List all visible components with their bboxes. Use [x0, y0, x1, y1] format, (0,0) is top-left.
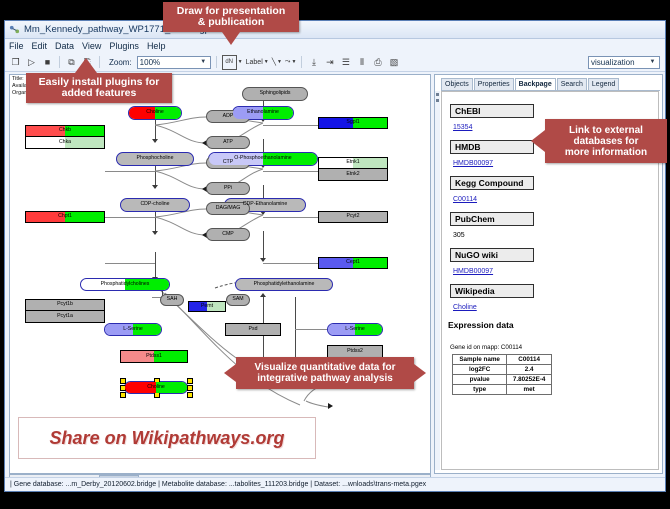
line-dropdown[interactable]: ╲ ▼ [272, 58, 282, 66]
node-pcyt1a[interactable]: Pcyt1a [25, 311, 105, 323]
cell-type-value: met [507, 385, 552, 395]
label-icon[interactable]: Label [246, 59, 263, 66]
dbvalue-pubchem: 305 [453, 232, 465, 239]
resize-handle[interactable] [187, 385, 193, 391]
tab-objects[interactable]: Objects [441, 78, 473, 90]
expression-data-heading: Expression data [448, 320, 514, 330]
callout-link-line3: more information [565, 147, 647, 158]
node-choline-selected[interactable]: Choline [124, 381, 188, 394]
callout-plugins: Easily install plugins for added feature… [26, 73, 172, 103]
callout-link-line2: databases for [573, 136, 638, 147]
arrow-icon [328, 403, 333, 409]
toolbar-separator-1 [59, 56, 60, 68]
zoom-label: Zoom: [109, 58, 132, 67]
callout-link-pointer-icon [531, 130, 545, 152]
callout-link-line1: Link to external [569, 125, 643, 136]
menu-item-edit[interactable]: Edit [32, 41, 48, 51]
dblink-kegg[interactable]: C00114 [453, 196, 477, 203]
chevron-down-icon[interactable]: ▼ [264, 59, 269, 65]
resize-handle[interactable] [187, 392, 193, 398]
callout-plugins-line2: added features [62, 88, 137, 99]
node-choline-top[interactable]: Choline [128, 106, 182, 120]
node-sah[interactable]: SAH [160, 294, 184, 306]
callout-share: Share on Wikipathways.org [18, 417, 316, 459]
open-folder-icon[interactable]: ▷ [25, 56, 38, 69]
save-icon[interactable]: ■ [41, 56, 54, 69]
connector [105, 217, 155, 218]
connector [295, 329, 327, 330]
visualization-combobox[interactable]: visualization ▼ [588, 56, 660, 69]
menu-item-data[interactable]: Data [55, 41, 74, 51]
pathway-info-block: Title: Availa Organ [12, 76, 27, 97]
node-chka[interactable]: Chka [25, 137, 105, 149]
callout-visualize-line2: integrative pathway analysis [257, 373, 393, 384]
node-phosphatidylethanolamine[interactable]: Phosphatidylethanolamine [235, 278, 333, 291]
cell-log2fc-label: log2FC [453, 365, 507, 375]
tab-search[interactable]: Search [557, 78, 587, 90]
node-sam[interactable]: SAM [226, 294, 250, 306]
menu-item-file[interactable]: File [9, 41, 24, 51]
print-icon[interactable]: ⎙ [371, 56, 384, 69]
node-ppi[interactable]: PPi [206, 182, 250, 195]
callout-visualize-pointer-left-icon [224, 364, 236, 382]
node-sphingolipids[interactable]: Sphingolipids [242, 87, 308, 101]
share-text: Share on Wikipathways.org [50, 428, 285, 449]
toolbar-separator-4 [301, 56, 302, 68]
chevron-down-icon[interactable]: ▼ [648, 57, 657, 68]
node-cept1[interactable]: Cept1 [318, 257, 388, 269]
connector [263, 263, 318, 264]
chevron-down-icon[interactable]: ▼ [292, 59, 297, 65]
pathvisio-icon [9, 24, 20, 35]
node-l-serine-left[interactable]: L-Serine [104, 323, 162, 336]
distribute-icon[interactable]: ⫴ [355, 56, 368, 69]
table-row: log2FC 2.4 [453, 365, 552, 375]
table-row: pvalue 7.80252E-4 [453, 375, 552, 385]
node-phosphatidylcholines[interactable]: Phosphatidylcholines [80, 278, 170, 291]
status-bar: | Gene database: ...m_Derby_20120602.bri… [5, 477, 665, 491]
node-phosphocholine[interactable]: Phosphocholine [116, 152, 194, 166]
menu-item-view[interactable]: View [82, 41, 101, 51]
menu-item-help[interactable]: Help [147, 41, 166, 51]
tab-legend[interactable]: Legend [588, 78, 619, 90]
zoom-value: 100% [140, 58, 199, 67]
interaction-icon[interactable]: ⤳ [285, 58, 291, 66]
dbheader-pubchem: PubChem [450, 212, 534, 226]
expression-table: Sample name C00114 log2FC 2.4 pvalue 7.8… [452, 354, 552, 395]
callout-draw-pointer-icon [222, 32, 240, 45]
node-atp[interactable]: ATP [206, 136, 250, 149]
dblink-hmdb[interactable]: HMDB00097 [453, 160, 493, 167]
chevron-down-icon[interactable]: ▼ [277, 59, 282, 65]
node-pcyt2[interactable]: Pcyt2 [318, 211, 388, 223]
callout-draw-line2: & publication [198, 17, 265, 28]
node-ptdss1[interactable]: Ptdss1 [120, 350, 188, 363]
info-title-label: Title: [12, 76, 27, 83]
label-dropdown[interactable]: Label ▼ [246, 59, 269, 66]
dbheader-hmdb: HMDB [450, 140, 534, 154]
resize-handle[interactable] [187, 378, 193, 384]
new-file-icon[interactable]: ❐ [9, 56, 22, 69]
node-psd[interactable]: Psd [225, 323, 281, 336]
menu-item-plugins[interactable]: Plugins [109, 41, 139, 51]
node-sgpl1[interactable]: Sgpl1 [318, 117, 388, 129]
align-left-icon[interactable]: ⇥ [323, 56, 336, 69]
toolbar-separator-2 [99, 56, 100, 68]
align-center-icon[interactable]: ⤓ [307, 56, 320, 69]
info-availability-label: Availa [12, 83, 27, 90]
connector [105, 263, 155, 264]
chevron-down-icon[interactable]: ▼ [199, 57, 208, 68]
dblink-wikipedia[interactable]: Choline [453, 304, 477, 311]
node-ethanolamine-top[interactable]: Ethanolamine [232, 106, 294, 120]
info-organism-label: Organ [12, 90, 27, 97]
toolbar-separator-3 [216, 56, 217, 68]
connector [105, 171, 155, 172]
node-cmp[interactable]: CMP [206, 228, 250, 241]
connector [263, 125, 318, 126]
gene-id-line: Gene id on mapp: C00114 [450, 344, 522, 351]
node-etnk2[interactable]: Etnk2 [318, 169, 388, 181]
properties-icon[interactable]: ▧ [387, 56, 400, 69]
dbheader-nugo: NuGO wiki [450, 248, 534, 262]
cell-sample-name-label: Sample name [453, 355, 507, 365]
callout-visualize: Visualize quantitative data for integrat… [236, 357, 414, 389]
callout-link: Link to external databases for more info… [545, 119, 667, 163]
node-chpt1[interactable]: Chpt1 [25, 211, 105, 223]
datanode-icon[interactable]: dN [222, 55, 237, 70]
status-text: | Gene database: ...m_Derby_20120602.bri… [10, 481, 426, 488]
node-pemt[interactable]: Pemt [188, 301, 226, 312]
chevron-down-icon[interactable]: ▼ [238, 59, 243, 65]
pathway-canvas[interactable]: Title: Availa Organ [9, 74, 431, 474]
callout-visualize-pointer-right-icon [414, 364, 426, 382]
table-row: type met [453, 385, 552, 395]
node-chkb[interactable]: Chkb [25, 125, 105, 137]
dbheader-kegg: Kegg Compound [450, 176, 534, 190]
cell-pvalue-value: 7.80252E-4 [507, 375, 552, 385]
tab-properties[interactable]: Properties [474, 78, 514, 90]
align-stack-icon[interactable]: ☰ [339, 56, 352, 69]
connector [263, 171, 318, 172]
callout-draw: Draw for presentation & publication [163, 2, 299, 32]
node-l-serine-right[interactable]: L-Serine [327, 323, 383, 336]
connector [263, 217, 318, 218]
visualization-value: visualization [591, 58, 648, 67]
tool-bar[interactable]: ❐ ▷ ■ ⧉ ⎘ Zoom: 100% ▼ dN ▼ Label ▼ ╲ [5, 53, 665, 72]
selection-handles[interactable]: Choline [120, 377, 192, 397]
interaction-dropdown[interactable]: ⤳ ▼ [285, 58, 297, 66]
panel-left-strip[interactable] [435, 91, 440, 470]
panel-tab-row[interactable]: Objects Properties Backpage Search Legen… [441, 77, 660, 90]
title-bar: Mm_Kennedy_pathway_WP1771_45176.gpml [5, 21, 665, 39]
callout-plugins-pointer-icon [75, 58, 97, 73]
node-pcyt1b[interactable]: Pcyt1b [25, 299, 105, 311]
cell-pvalue-label: pvalue [453, 375, 507, 385]
line-icon[interactable]: ╲ [272, 58, 276, 66]
menu-bar[interactable]: File Edit Data View Plugins Help [5, 39, 665, 53]
cell-type-label: type [453, 385, 507, 395]
dblink-nugo[interactable]: HMDB00097 [453, 268, 493, 275]
dblink-chebi[interactable]: 15354 [453, 124, 472, 131]
cell-sample-name-value: C00114 [507, 355, 552, 365]
callout-visualize-line1: Visualize quantitative data for [255, 362, 396, 373]
zoom-combobox[interactable]: 100% ▼ [137, 56, 211, 69]
node-etnk1[interactable]: Etnk1 [318, 157, 388, 169]
dbheader-wikipedia: Wikipedia [450, 284, 534, 298]
arrow-icon [260, 293, 266, 297]
datanode-dropdown[interactable]: dN ▼ [222, 55, 243, 70]
screenshot-root: Mm_Kennedy_pathway_WP1771_45176.gpml Fil… [0, 0, 670, 509]
node-cdp-choline[interactable]: CDP-choline [120, 198, 190, 212]
cell-log2fc-value: 2.4 [507, 365, 552, 375]
dbheader-chebi: ChEBI [450, 104, 534, 118]
table-row: Sample name C00114 [453, 355, 552, 365]
